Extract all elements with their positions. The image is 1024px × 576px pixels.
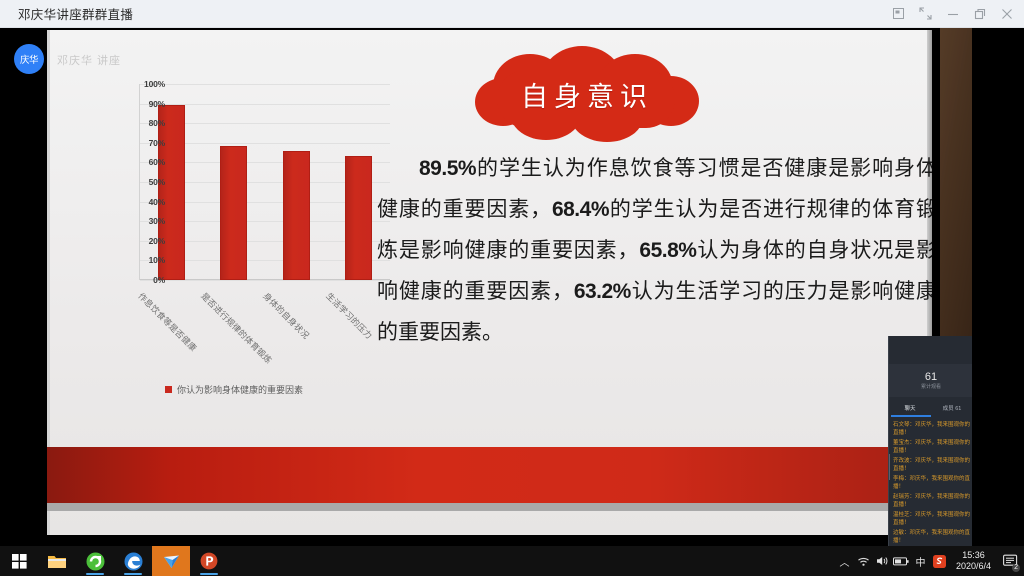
legend-label: 你认为影响身体健康的重要因素 xyxy=(177,383,303,396)
chart-bar xyxy=(158,105,185,280)
file-explorer-button[interactable] xyxy=(38,546,76,576)
notification-badge: 2 xyxy=(1012,564,1020,572)
y-axis-tick: 10% xyxy=(119,255,165,265)
chart-bar xyxy=(345,156,372,280)
viewer-count: 61 xyxy=(925,371,937,383)
taskbar: ︿ 中 15:36 2020/6/4 2 xyxy=(0,546,1024,576)
viewer-count-label: 累计观看 xyxy=(921,383,941,391)
chat-message-list[interactable]: 石文琴：邓庆华，我来围观你的直播！董宝杰：邓庆华，我来围观你的直播！齐改波：邓庆… xyxy=(889,420,972,546)
clock-date: 2020/6/4 xyxy=(956,561,991,572)
y-axis-tick: 60% xyxy=(119,157,165,167)
sogou-icon[interactable] xyxy=(930,546,949,576)
battery-icon[interactable] xyxy=(892,546,911,576)
slide-paragraph: 89.5%的学生认为作息饮食等习惯是否健康是影响身体健康的重要因素，68.4%的… xyxy=(377,148,932,352)
network-icon[interactable] xyxy=(854,546,873,576)
chat-message: 齐改波：邓庆华，我来围观你的直播！ xyxy=(889,456,972,474)
paragraph-stat: 68.4% xyxy=(552,198,609,221)
x-axis-tick-label: 作息饮食等是否健康 xyxy=(136,290,200,354)
chart-legend: 你认为影响身体健康的重要因素 xyxy=(165,383,303,396)
window-titlebar: 邓庆华讲座群群直播 xyxy=(0,0,1024,28)
snapshot-icon[interactable] xyxy=(885,0,912,28)
avatar[interactable]: 庆华 xyxy=(14,44,44,74)
clock-time: 15:36 xyxy=(962,550,985,561)
tray-chevron-icon[interactable]: ︿ xyxy=(835,546,854,576)
x-axis-tick-label: 生活学习的压力 xyxy=(323,290,375,342)
chat-message: 温桂芝：邓庆华，我来围观你的直播！ xyxy=(889,510,972,528)
cloud-title-text: 自身意识 xyxy=(521,75,653,114)
y-axis-tick: 30% xyxy=(119,216,165,226)
chat-tabs: 聊天 成员 61 xyxy=(889,400,972,416)
y-axis-tick: 90% xyxy=(119,99,165,109)
chat-tab-indicator xyxy=(891,415,931,417)
window-title: 邓庆华讲座群群直播 xyxy=(18,4,133,23)
chart-plot-area xyxy=(139,84,389,280)
chart-bars xyxy=(140,84,390,280)
edge-button[interactable] xyxy=(114,546,152,576)
chat-message: 边敏：邓庆华，我来围观你的直播！ xyxy=(889,528,972,546)
maximize-icon[interactable] xyxy=(966,0,993,28)
chart-bar xyxy=(283,151,310,280)
tab-members[interactable]: 成员 61 xyxy=(931,404,972,412)
chat-message: 石文琴：邓庆华，我来围观你的直播！ xyxy=(889,420,972,438)
tab-chat[interactable]: 聊天 xyxy=(889,404,931,412)
window-controls xyxy=(885,0,1020,28)
paragraph-stat: 89.5% xyxy=(419,157,476,180)
y-axis-tick: 20% xyxy=(119,236,165,246)
paragraph-stat: 65.8% xyxy=(639,239,696,262)
chat-message: 李梅：邓庆华，我来围观你的直播！ xyxy=(889,474,972,492)
taskbar-running-indicator xyxy=(200,573,218,575)
y-axis-tick: 0% xyxy=(119,275,165,285)
gridline xyxy=(140,280,390,281)
collapse-icon[interactable] xyxy=(912,0,939,28)
chat-message: 赵瑞芳：邓庆华，我来围观你的直播！ xyxy=(889,492,972,510)
system-tray: ︿ 中 15:36 2020/6/4 2 xyxy=(835,546,1024,576)
live-app-button[interactable] xyxy=(152,546,190,576)
slide-band-shadow xyxy=(47,503,932,511)
y-axis-tick: 100% xyxy=(119,79,165,89)
y-axis-tick: 40% xyxy=(119,197,165,207)
start-button[interactable] xyxy=(0,546,38,576)
slide-canvas: 邓庆华 讲座 100%90%80%70%60%50%40%30%20%10%0%… xyxy=(47,30,932,535)
bar-chart: 100%90%80%70%60%50%40%30%20%10%0% 作息饮食等是… xyxy=(87,78,417,398)
ime-indicator[interactable]: 中 xyxy=(911,546,930,576)
clock[interactable]: 15:36 2020/6/4 xyxy=(949,546,998,576)
browser-360-button[interactable] xyxy=(76,546,114,576)
y-axis-tick: 50% xyxy=(119,177,165,187)
chat-message: 董宝杰：邓庆华，我来围观你的直播！ xyxy=(889,438,972,456)
cloud-title-shape: 自身意识 xyxy=(467,44,707,144)
volume-icon[interactable] xyxy=(873,546,892,576)
y-axis-tick: 70% xyxy=(119,138,165,148)
screen: 邓庆华讲座群群直播 庆华 xyxy=(0,0,1024,576)
desktop: 庆华 邓庆华 讲座 100%90%80%70%60%50%40%30%20%10… xyxy=(0,28,1024,546)
y-axis-tick: 80% xyxy=(119,118,165,128)
legend-swatch xyxy=(165,386,172,393)
background-dark-right xyxy=(972,28,1024,546)
live-stage: 庆华 邓庆华 讲座 100%90%80%70%60%50%40%30%20%10… xyxy=(0,28,940,546)
chart-bar xyxy=(220,146,247,280)
slide-red-band xyxy=(47,447,932,503)
chat-scrollbar[interactable] xyxy=(888,454,890,480)
powerpoint-button[interactable] xyxy=(190,546,228,576)
chart-x-axis-labels: 作息饮食等是否健康是否进行规律的体育锻炼身体的自身状况生活学习的压力 xyxy=(139,286,389,366)
x-axis-tick-label: 身体的自身状况 xyxy=(261,290,313,342)
slide-watermark: 邓庆华 讲座 xyxy=(57,52,121,68)
paragraph-stat: 63.2% xyxy=(574,280,631,303)
notification-center-icon[interactable]: 2 xyxy=(998,546,1022,576)
minimize-icon[interactable] xyxy=(939,0,966,28)
close-icon[interactable] xyxy=(993,0,1020,28)
taskbar-running-indicator xyxy=(86,573,104,575)
viewer-count-box: 61 累计观看 xyxy=(889,364,972,397)
chat-panel: 61 累计观看 聊天 成员 61 石文琴：邓庆华，我来围观你的直播！董宝杰：邓庆… xyxy=(888,336,972,546)
taskbar-running-indicator xyxy=(124,573,142,575)
